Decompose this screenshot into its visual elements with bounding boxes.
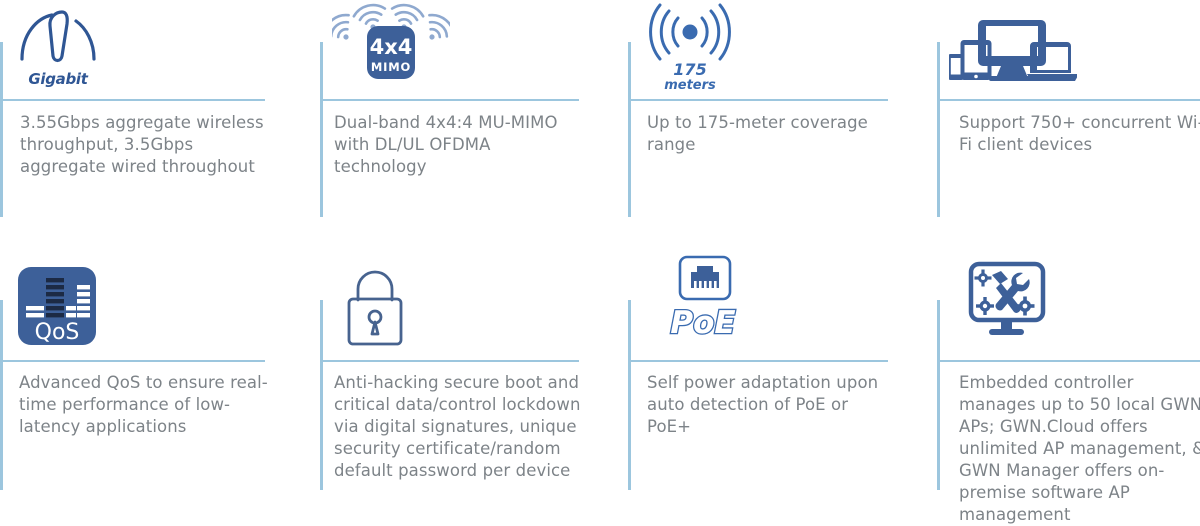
icon-area: QoS	[12, 258, 292, 353]
poe-ethernet-port-icon: PoE	[662, 255, 744, 347]
feature-row-2: QoS Advanced QoS to ensure real-time per…	[0, 0, 1200, 262]
icon-area: PoE	[640, 253, 920, 348]
feature-card-security: Anti-hacking secure boot and critical da…	[320, 0, 628, 262]
feature-card-controller: Embedded controller manages up to 50 loc…	[937, 0, 1200, 262]
feature-description: Self power adaptation upon auto detectio…	[647, 372, 897, 438]
padlock-icon	[340, 265, 410, 347]
svg-text:QoS: QoS	[35, 320, 80, 345]
icon-area	[332, 258, 612, 353]
horizontal-accent-rule	[630, 360, 888, 362]
feature-grid: Gigabit 3.55Gbps aggregate wireless thro…	[0, 0, 1200, 523]
feature-card-poe: PoE Self power adaptation upon auto dete…	[628, 0, 937, 262]
embedded-controller-icon	[965, 259, 1049, 343]
icon-area	[949, 253, 1200, 348]
feature-description: Anti-hacking secure boot and critical da…	[334, 372, 582, 482]
svg-text:PoE: PoE	[670, 305, 735, 341]
vertical-accent-rule	[0, 300, 3, 490]
vertical-accent-rule	[320, 300, 323, 490]
qos-equalizer-icon: QoS	[18, 267, 96, 345]
vertical-accent-rule	[628, 300, 631, 490]
horizontal-accent-rule	[322, 360, 579, 362]
horizontal-accent-rule	[939, 360, 1200, 362]
feature-description: Advanced QoS to ensure real-time perform…	[19, 372, 274, 438]
horizontal-accent-rule	[2, 360, 265, 362]
feature-card-qos: QoS Advanced QoS to ensure real-time per…	[0, 0, 320, 262]
feature-description: Embedded controller manages up to 50 loc…	[959, 372, 1200, 526]
vertical-accent-rule	[937, 300, 940, 490]
